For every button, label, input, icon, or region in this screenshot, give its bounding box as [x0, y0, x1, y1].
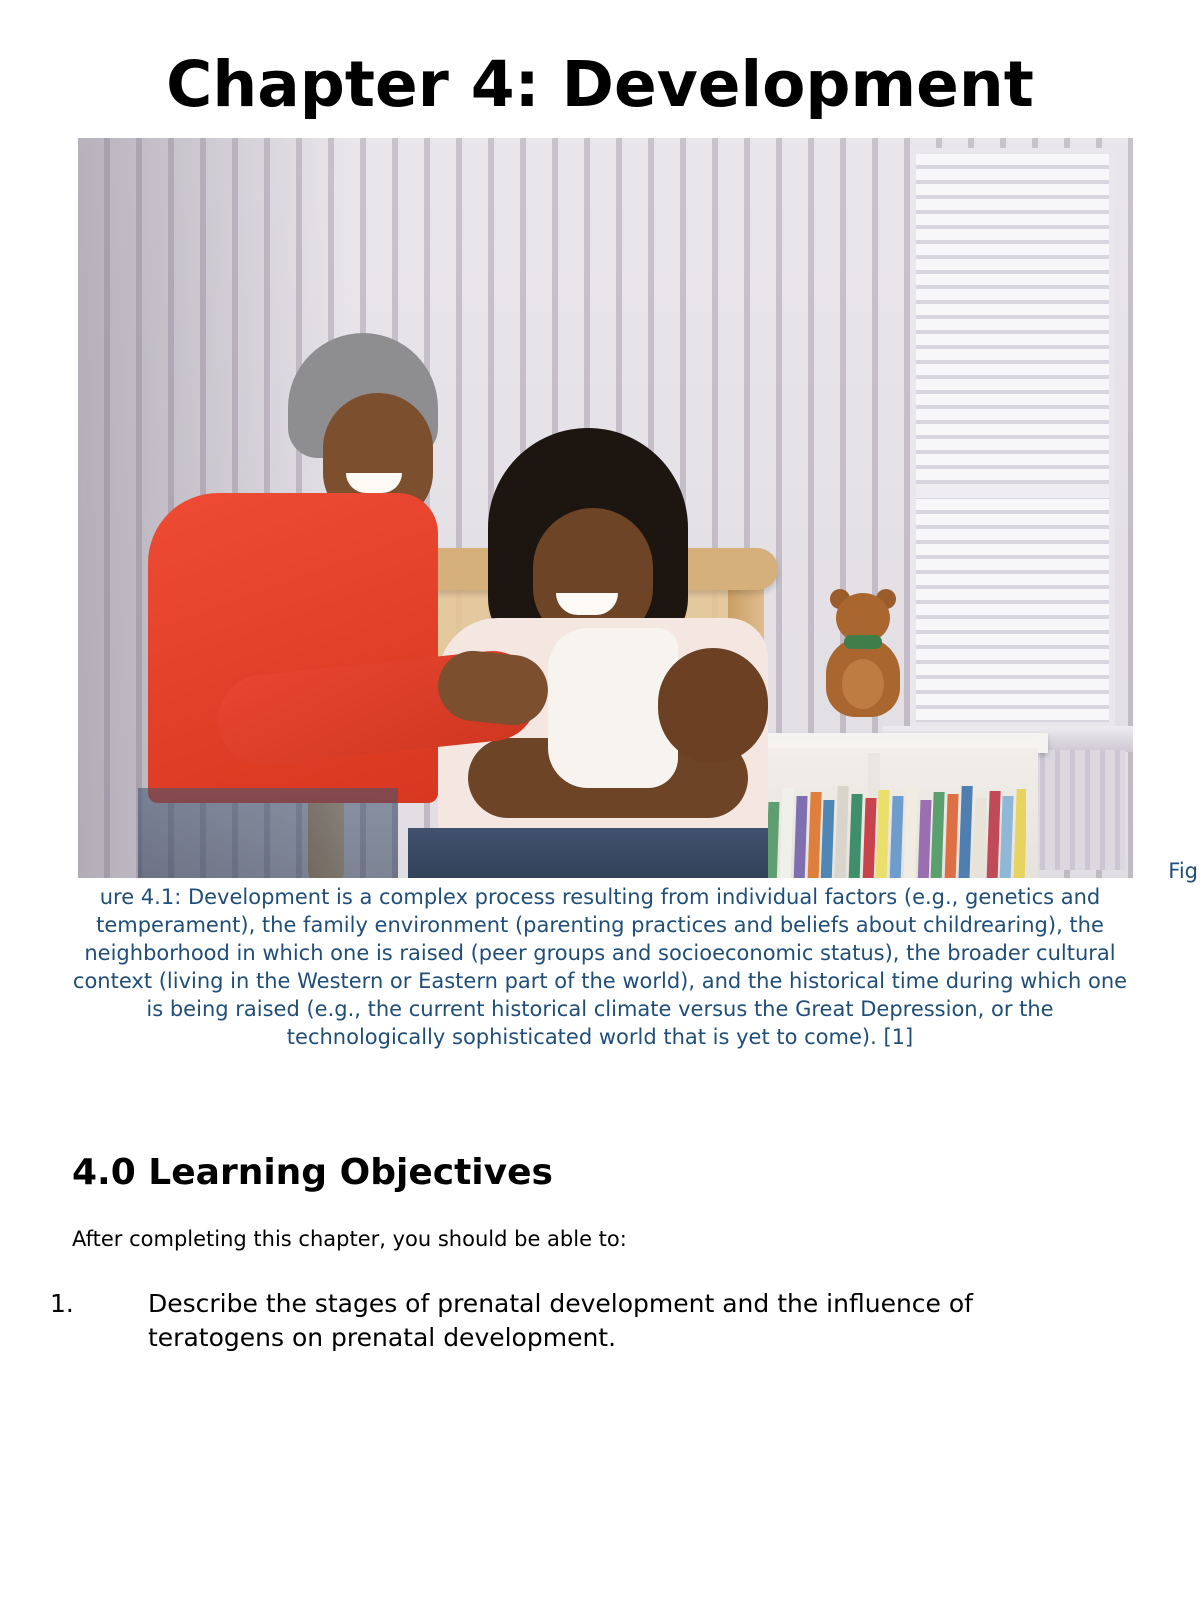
- shutter-slats: [916, 154, 1109, 722]
- grandmother-figure: [138, 333, 498, 878]
- window-shutters: [910, 148, 1115, 728]
- window-mullion: [916, 484, 1109, 498]
- figure-label-fragment: Fig: [1168, 861, 1198, 882]
- section-intro-text: After completing this chapter, you shoul…: [72, 1227, 1200, 1251]
- section-heading-learning-objectives: 4.0 Learning Objectives: [72, 1152, 1200, 1193]
- list-item-number: 1.: [50, 1287, 148, 1356]
- teddy-bear: [818, 593, 908, 728]
- document-page: Chapter 4: Development: [0, 52, 1200, 1605]
- learning-objectives-list: 1. Describe the stages of prenatal devel…: [0, 1287, 1200, 1356]
- figure-caption: ure 4.1: Development is a complex proces…: [68, 884, 1133, 1052]
- figure-image: [78, 138, 1133, 878]
- list-item-text: Describe the stages of prenatal developm…: [148, 1287, 1090, 1356]
- figure-4-1: Fig: [0, 138, 1200, 878]
- page-title: Chapter 4: Development: [40, 52, 1160, 118]
- list-item: 1. Describe the stages of prenatal devel…: [50, 1287, 1090, 1356]
- baby-figure: [538, 588, 778, 848]
